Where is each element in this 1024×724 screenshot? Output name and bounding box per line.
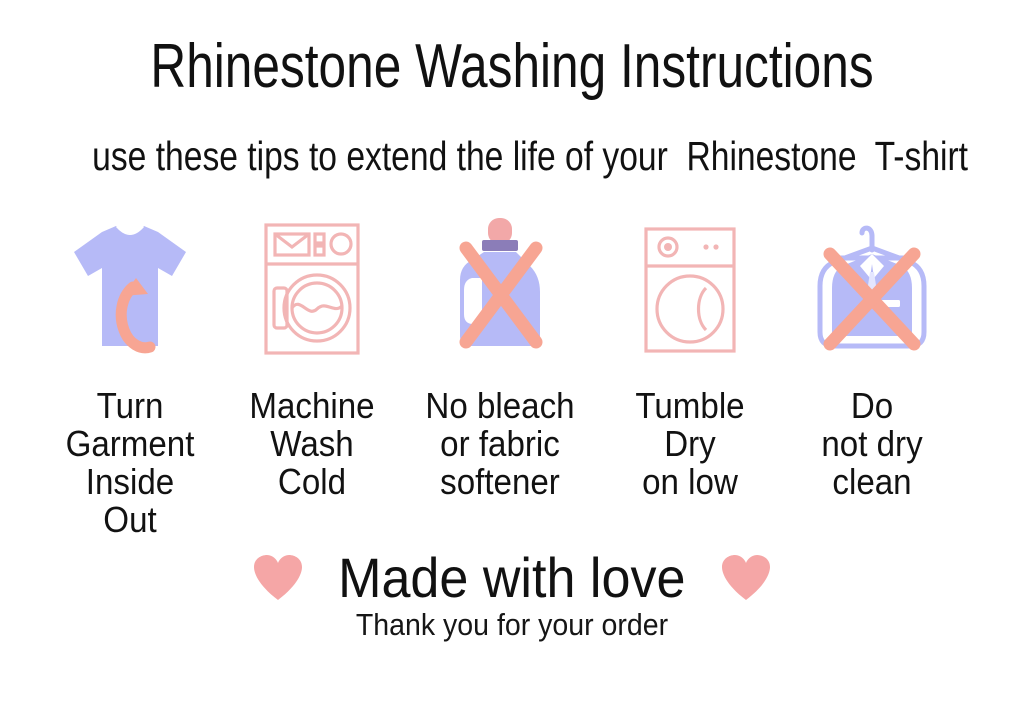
instruction-label-row: Turn Garment Inside Out Machine Wash Col… xyxy=(0,387,1024,547)
label-line: No bleach xyxy=(408,387,592,425)
label-line: Do xyxy=(780,387,964,425)
tshirt-turn-inside-out-icon xyxy=(40,214,220,364)
label-line: Inside xyxy=(38,463,222,501)
no-dry-clean-garment-bag-icon xyxy=(782,214,962,364)
label-line: Garment xyxy=(38,425,222,463)
made-with-love-text: Made with love xyxy=(338,548,685,608)
thank-you-text: Thank you for your order xyxy=(41,608,983,642)
instruction-label-turn-garment-inside-out: Turn Garment Inside Out xyxy=(38,387,222,539)
label-line: Cold xyxy=(220,463,404,501)
label-line: Tumble xyxy=(598,387,782,425)
washing-instructions-card: Rhinestone Washing Instructions use thes… xyxy=(0,0,1024,724)
no-bleach-bottle-icon xyxy=(410,214,590,364)
label-line: clean xyxy=(780,463,964,501)
label-line: Machine xyxy=(220,387,404,425)
label-line: softener xyxy=(408,463,592,501)
label-line: on low xyxy=(598,463,782,501)
page-title: Rhinestone Washing Instructions xyxy=(102,36,921,98)
made-with-love-row: Made with love xyxy=(0,540,1024,616)
tumble-dryer-icon xyxy=(600,214,780,364)
heart-icon xyxy=(721,554,771,602)
instruction-label-no-bleach-or-fabric-softener: No bleach or fabric softener xyxy=(408,387,592,501)
label-line: Turn xyxy=(38,387,222,425)
page-subtitle: use these tips to extend the life of you… xyxy=(92,136,932,177)
label-line: not dry xyxy=(780,425,964,463)
label-line: Dry xyxy=(598,425,782,463)
instruction-icon-row xyxy=(0,214,1024,364)
heart-icon xyxy=(253,554,303,602)
label-line: Wash xyxy=(220,425,404,463)
label-line: Out xyxy=(38,501,222,539)
label-line: or fabric xyxy=(408,425,592,463)
instruction-label-do-not-dry-clean: Do not dry clean xyxy=(780,387,964,501)
instruction-label-tumble-dry-on-low: Tumble Dry on low xyxy=(598,387,782,501)
washing-machine-icon xyxy=(222,214,402,364)
instruction-label-machine-wash-cold: Machine Wash Cold xyxy=(220,387,404,501)
